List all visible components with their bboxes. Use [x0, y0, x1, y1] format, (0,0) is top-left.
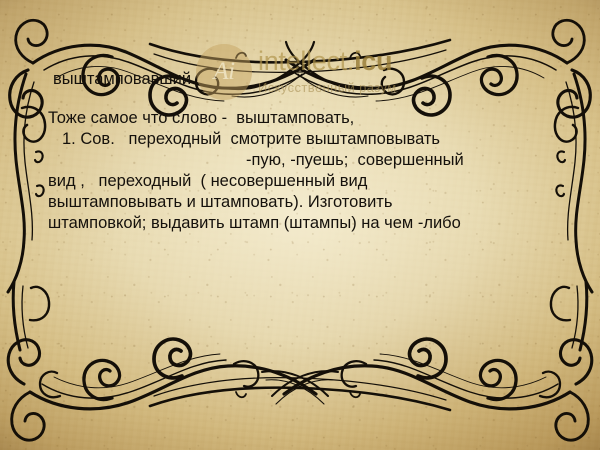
definition-line: -пую, -пуешь; совершенный — [0, 150, 600, 171]
definition-line: 1. Сов. переходный смотрите выштамповыва… — [0, 129, 600, 150]
watermark-brand-tld: icu — [354, 46, 392, 76]
watermark-tagline: Искусственный разум — [258, 80, 397, 95]
entry-headword: выштамповавший — [53, 70, 191, 89]
definition-line: Тоже самое что слово - выштамповать, — [0, 108, 600, 129]
ornament-bottom-center — [150, 378, 450, 410]
definition-line: вид , переходный ( несовершенный вид — [0, 171, 600, 192]
entry-definition: Тоже самое что слово - выштамповать, 1. … — [0, 108, 600, 234]
ornament-bottom-right — [272, 282, 592, 440]
definition-line: выштамповывать и штамповать). Изготовить — [0, 192, 600, 213]
dictionary-card: Ai intellect.icu Искусственный разум выш… — [0, 0, 600, 450]
watermark-text-group: intellect.icu Искусственный разум — [258, 42, 397, 95]
definition-line: штамповкой; выдавить штамп (штампы) на ч… — [0, 213, 600, 234]
watermark-brand: intellect.icu — [258, 48, 397, 75]
ornament-top-center — [150, 40, 450, 72]
watermark-badge-text: Ai — [213, 58, 234, 86]
watermark-brand-name: intellect. — [258, 46, 354, 76]
ornament-bottom-left — [8, 282, 328, 440]
watermark-logo-badge: Ai — [196, 44, 252, 100]
watermark: Ai intellect.icu Искусственный разум — [196, 42, 397, 100]
